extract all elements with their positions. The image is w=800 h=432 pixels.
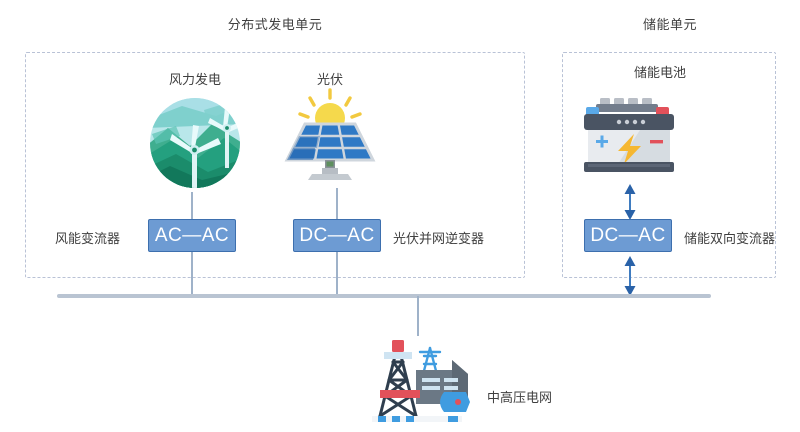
wind-turbine-icon (146, 94, 244, 192)
diagram-canvas: 分布式发电单元 储能单元 风力发电 光伏 储能电池 (0, 0, 800, 432)
battery-icon (578, 92, 682, 184)
converter-box-storage[interactable]: DC—AC (584, 219, 672, 252)
device-label-battery: 储能电池 (580, 62, 740, 81)
converter-box-solar[interactable]: DC—AC (293, 219, 381, 252)
grid-caption: 中高压电网 (487, 387, 552, 406)
converter-caption-storage: 储能双向变流器 (684, 228, 775, 247)
device-label-wind: 风力发电 (130, 69, 260, 88)
busbar (57, 294, 711, 298)
connector-wind-upper (191, 192, 193, 219)
solar-panel-icon (280, 88, 380, 188)
device-label-solar: 光伏 (270, 69, 390, 88)
power-plant-icon (358, 330, 478, 422)
section-title-storage: 储能单元 (600, 14, 740, 33)
converter-caption-wind: 风能变流器 (55, 228, 120, 247)
converter-caption-solar: 光伏并网逆变器 (393, 228, 484, 247)
connector-solar-lower (336, 252, 338, 297)
converter-box-wind[interactable]: AC—AC (148, 219, 236, 252)
connector-solar-upper (336, 188, 338, 219)
section-title-generation: 分布式发电单元 (180, 14, 370, 33)
connector-wind-lower (191, 252, 193, 297)
